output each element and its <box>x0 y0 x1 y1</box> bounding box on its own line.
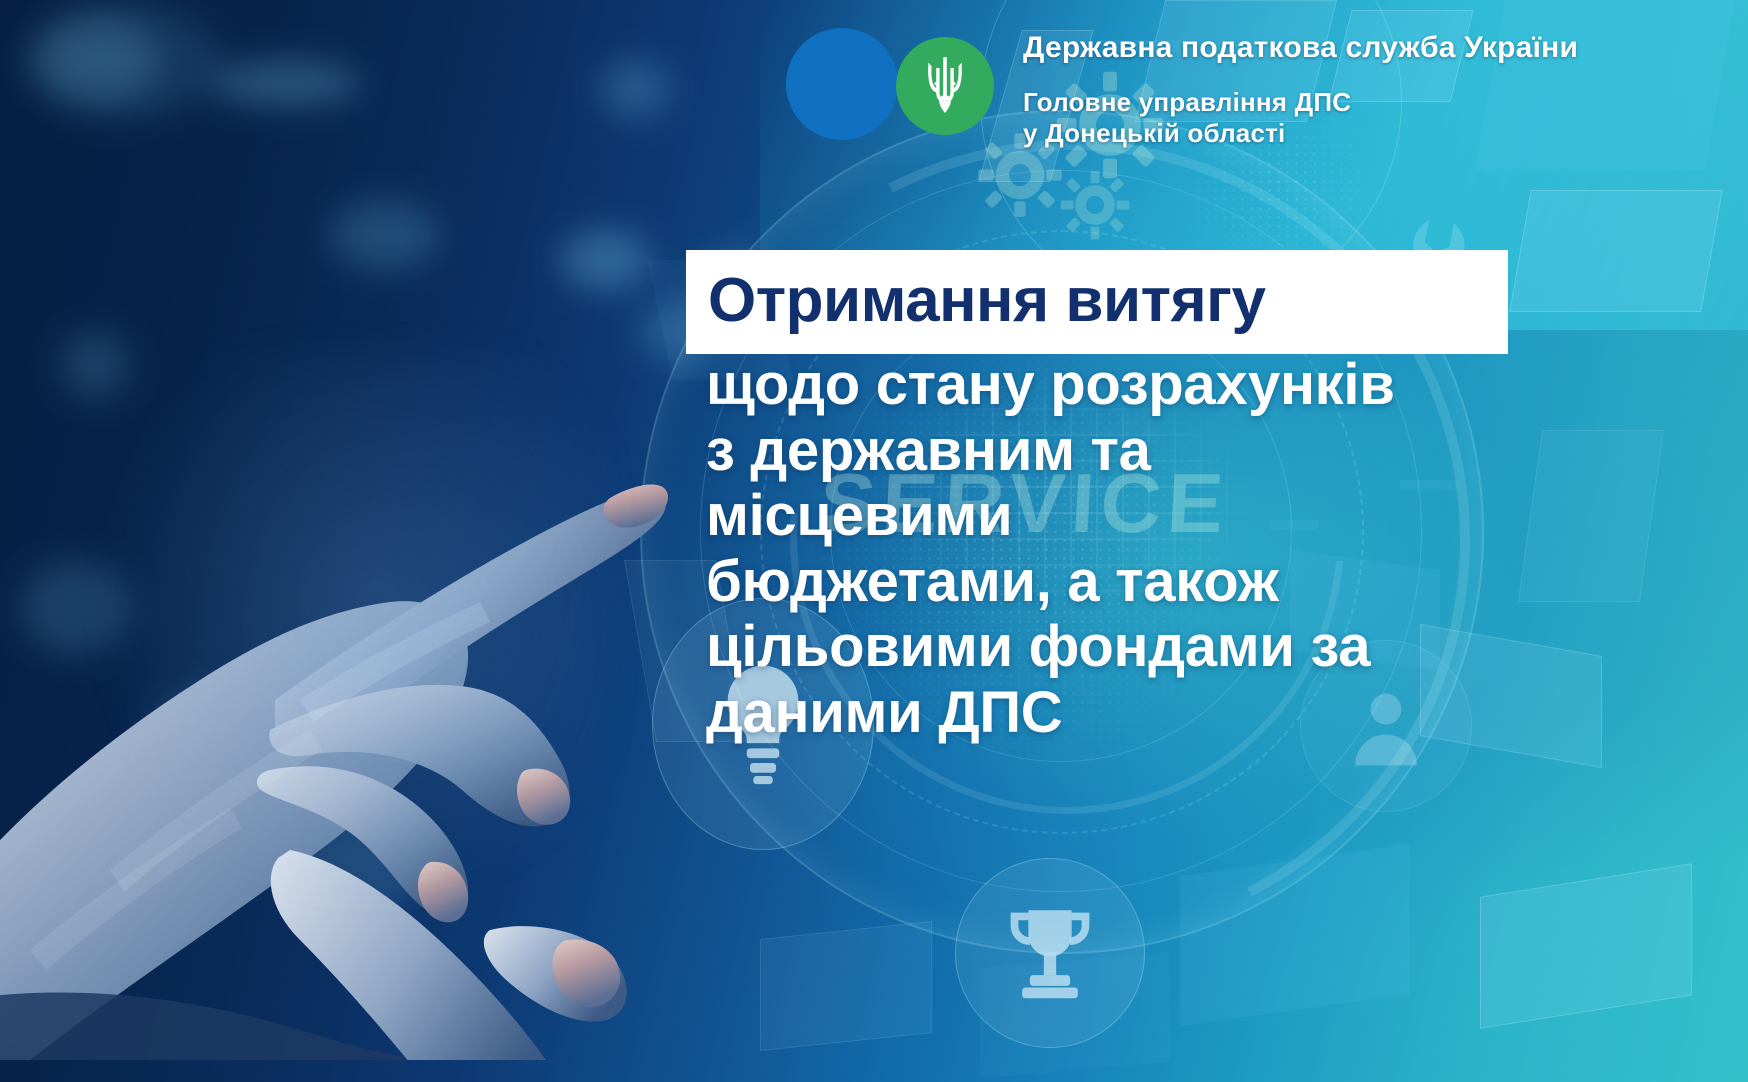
bokeh-light <box>600 60 670 118</box>
body-line: бюджетами, а також <box>706 549 1534 615</box>
trophy-icon-bubble <box>955 858 1145 1048</box>
hand-photo <box>0 230 730 1060</box>
slide-canvas: SERVICE <box>0 0 1748 1082</box>
org-name-national: Державна податкова служба України <box>1023 30 1578 65</box>
hud-panel <box>1475 0 1735 170</box>
hud-panel <box>760 921 932 1051</box>
logo-green-circle <box>896 37 994 135</box>
hand-glow <box>90 350 610 910</box>
hud-panel <box>1509 190 1723 312</box>
hud-panel <box>1518 430 1664 602</box>
ukraine-trident-icon <box>922 55 968 117</box>
body-line: цільовими фондами за <box>706 614 1534 680</box>
gear-icon <box>1050 160 1140 250</box>
body-text: щодо стану розрахунків з державним та мі… <box>706 352 1534 745</box>
org-name-regional-line2: у Донецькій області <box>1023 118 1351 149</box>
org-name-regional: Головне управління ДПС у Донецькій облас… <box>1023 87 1351 148</box>
body-line: місцевими <box>706 483 1534 549</box>
body-line: з державним та <box>706 418 1534 484</box>
body-line: щодо стану розрахунків <box>706 352 1534 418</box>
org-name-regional-line1: Головне управління ДПС <box>1023 87 1351 118</box>
body-line: даними ДПС <box>706 680 1534 746</box>
logo-blue-circle <box>786 28 898 140</box>
trophy-icon <box>1000 901 1100 1006</box>
bokeh-light <box>210 60 360 106</box>
page-title: Отримання витягу <box>708 268 1528 333</box>
bokeh-light <box>20 0 220 120</box>
